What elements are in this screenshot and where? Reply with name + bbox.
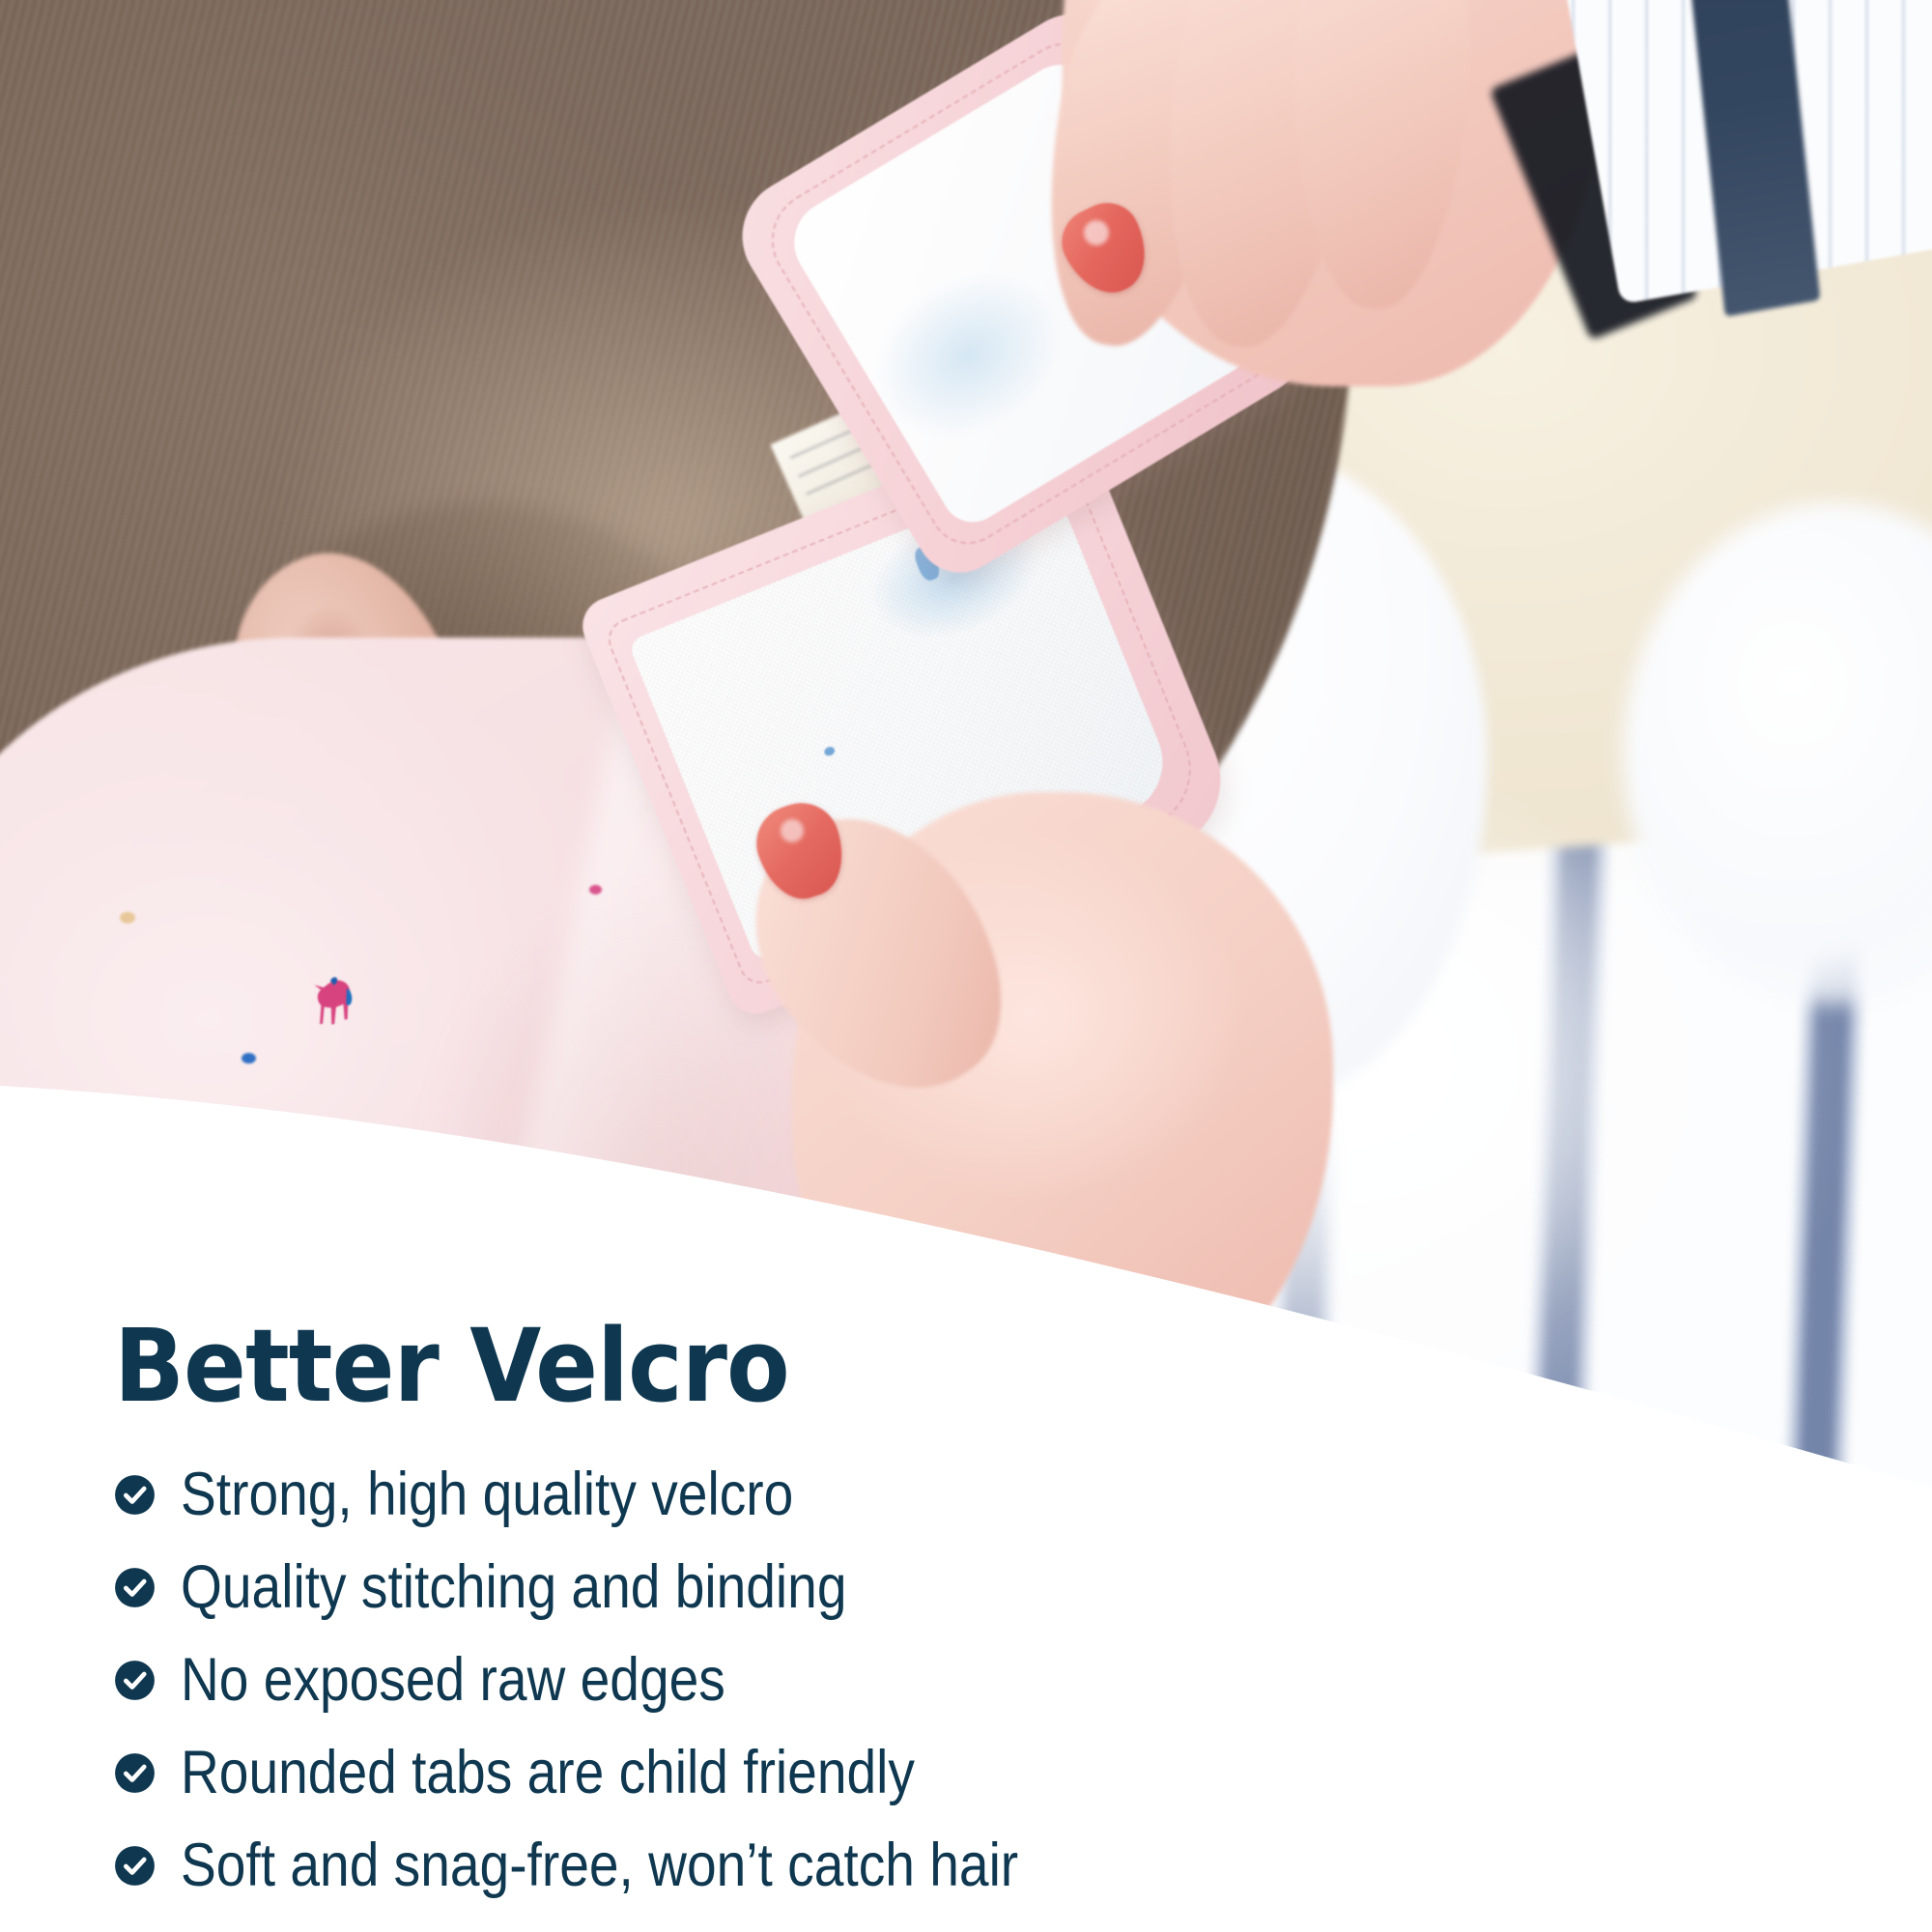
bib-print-speck [429,1136,445,1149]
list-item: Strong, high quality velcro [114,1459,1563,1530]
check-circle-icon [114,1752,156,1794]
feature-text-block: Better Velcro Strong, high quality velcr… [114,1316,1563,1922]
list-item: Soft and snag-free, won’t catch hair [114,1830,1563,1901]
check-circle-icon [114,1845,156,1887]
list-item-label: Strong, high quality velcro [181,1463,793,1526]
page-title: Better Velcro [114,1316,1447,1416]
bib-print-speck [120,912,135,923]
feature-list: Strong, high quality velcro Quality stit… [114,1459,1563,1901]
check-circle-icon [114,1660,156,1701]
list-item: Quality stitching and binding [114,1551,1563,1623]
check-circle-icon [114,1474,156,1516]
list-item-label: Soft and snag-free, won’t catch hair [181,1833,1018,1897]
unicorn-print-motif [302,972,365,1032]
bib-print-speck [241,1053,256,1064]
list-item-label: No exposed raw edges [181,1648,725,1712]
list-item: No exposed raw edges [114,1644,1563,1716]
list-item-label: Rounded tabs are child friendly [181,1741,915,1804]
list-item: Rounded tabs are child friendly [114,1737,1563,1808]
nail-shine [1084,220,1109,245]
list-item-label: Quality stitching and binding [181,1555,847,1619]
product-feature-graphic: Better Velcro Strong, high quality velcr… [0,0,1932,1932]
nail-shine [781,819,804,842]
bib-print-speck [589,885,602,895]
check-circle-icon [114,1567,156,1608]
